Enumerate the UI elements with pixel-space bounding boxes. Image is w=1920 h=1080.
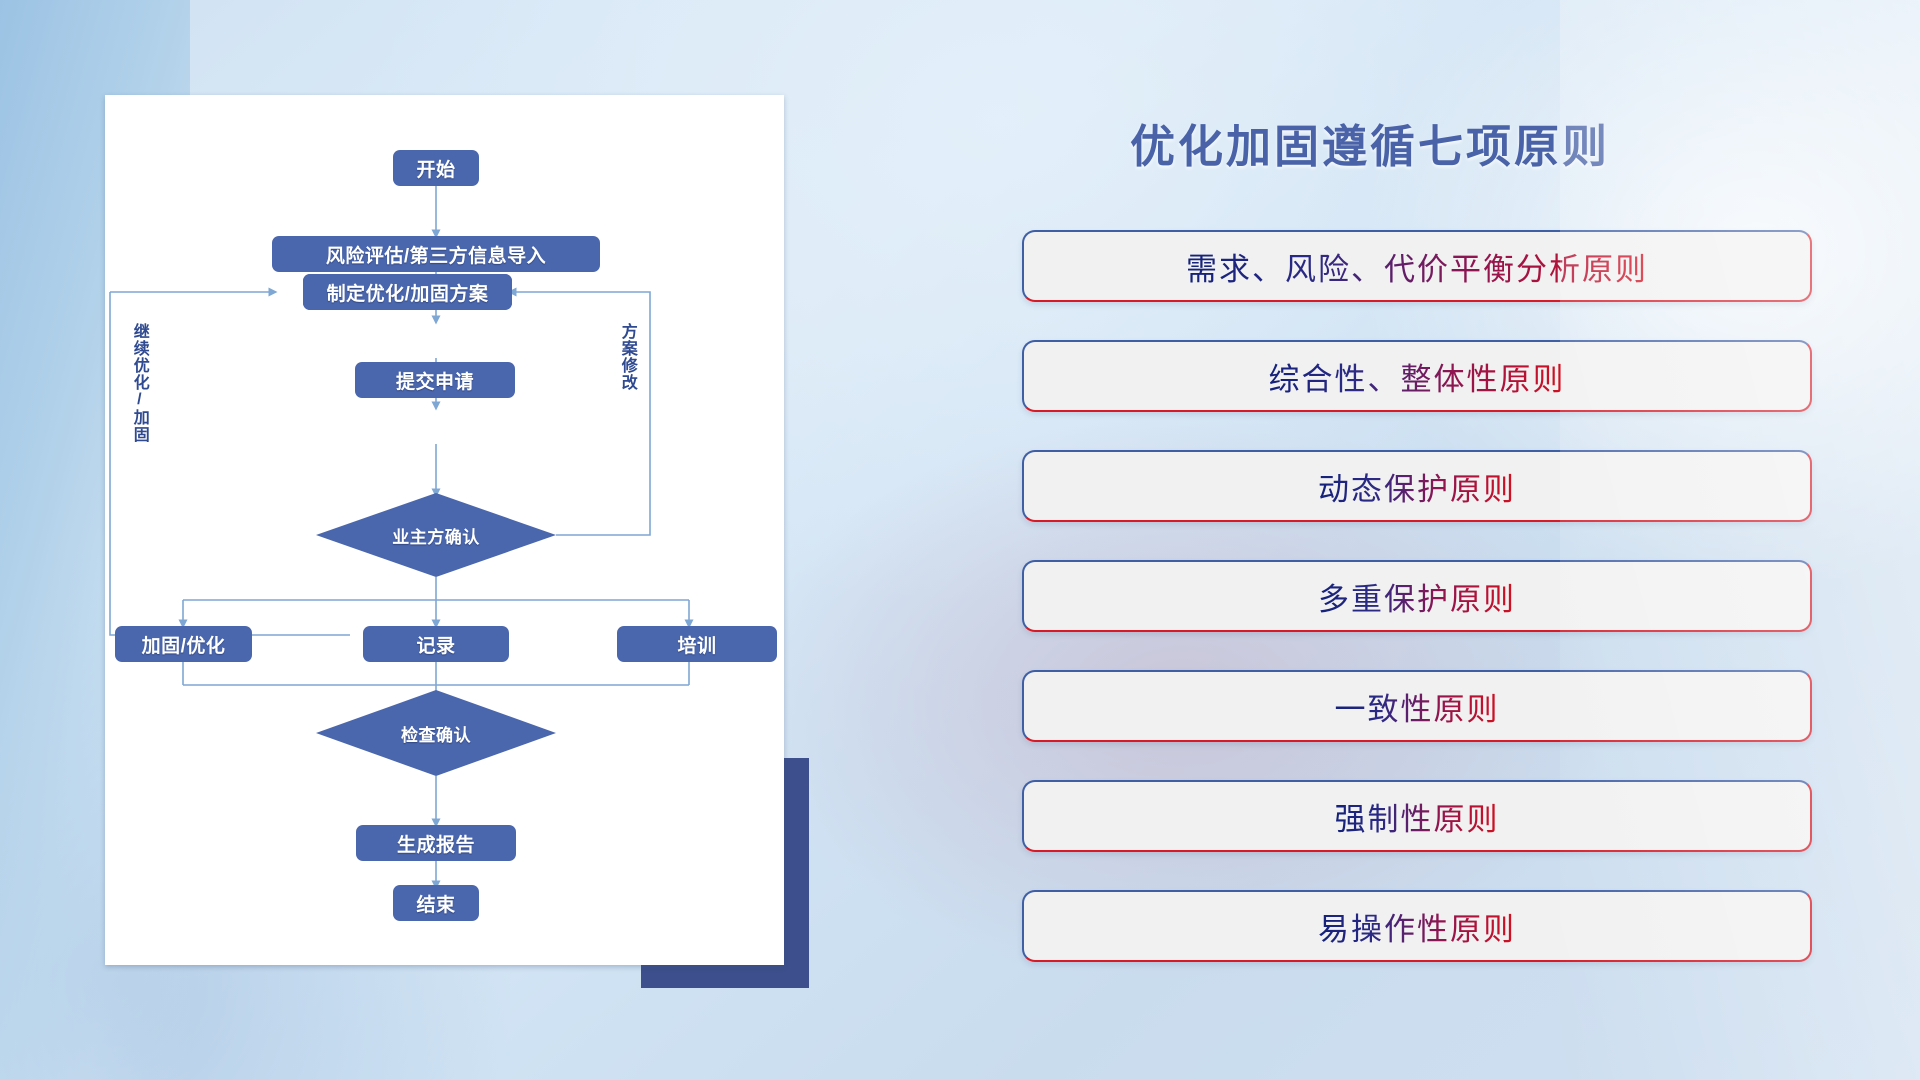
flowchart-card: 开始 风险评估/第三方信息导入 制定优化/加固方案 提交申请 业主方确认 加固/…: [105, 95, 784, 965]
flow-node-label: 生成报告: [397, 830, 475, 857]
page-title: 优化加固遵循七项原则: [1020, 110, 1720, 175]
principle-label: 综合性、整体性原则: [1269, 354, 1566, 399]
principle-label: 需求、风险、代价平衡分析原则: [1186, 244, 1648, 289]
principle-label: 易操作性原则: [1318, 904, 1516, 949]
principle-item-5[interactable]: 一致性原则: [1022, 670, 1812, 742]
flow-node-plan[interactable]: 制定优化/加固方案: [303, 274, 512, 310]
principle-item-1[interactable]: 需求、风险、代价平衡分析原则: [1022, 230, 1812, 302]
flow-node-label: 记录: [416, 631, 455, 658]
flow-node-submit-application[interactable]: 提交申请: [355, 362, 515, 398]
flow-node-label: 开始: [416, 155, 455, 182]
flow-node-generate-report[interactable]: 生成报告: [356, 825, 516, 861]
flow-node-label: 制定优化/加固方案: [327, 279, 489, 306]
principle-item-2[interactable]: 综合性、整体性原则: [1022, 340, 1812, 412]
flow-node-label: 业主方确认: [392, 523, 480, 548]
principle-item-3[interactable]: 动态保护原则: [1022, 450, 1812, 522]
principles-list: 需求、风险、代价平衡分析原则 综合性、整体性原则 动态保护原则 多重保护原则 一…: [1022, 230, 1812, 962]
flow-edge-label-continue-optimize: 继续优化/加固: [130, 323, 147, 443]
flow-node-label: 检查确认: [401, 721, 471, 746]
flow-node-label: 结束: [416, 890, 455, 917]
flow-node-reinforce[interactable]: 加固/优化: [115, 626, 252, 662]
flow-node-label: 提交申请: [396, 367, 474, 394]
principle-item-4[interactable]: 多重保护原则: [1022, 560, 1812, 632]
flow-node-owner-confirm[interactable]: 业主方确认: [316, 493, 556, 577]
principle-item-6[interactable]: 强制性原则: [1022, 780, 1812, 852]
flow-node-label: 培训: [677, 631, 716, 658]
flow-node-start[interactable]: 开始: [393, 150, 479, 186]
flow-node-end[interactable]: 结束: [393, 885, 479, 921]
principle-label: 多重保护原则: [1318, 574, 1516, 619]
flow-node-risk-assessment[interactable]: 风险评估/第三方信息导入: [272, 236, 600, 272]
flow-node-training[interactable]: 培训: [617, 626, 777, 662]
slide-root: 开始 风险评估/第三方信息导入 制定优化/加固方案 提交申请 业主方确认 加固/…: [0, 0, 1920, 1080]
principle-item-7[interactable]: 易操作性原则: [1022, 890, 1812, 962]
principle-label: 动态保护原则: [1318, 464, 1516, 509]
flow-edge-label-plan-revision: 方案修改: [618, 323, 635, 391]
principle-label: 一致性原则: [1335, 684, 1500, 729]
flow-node-inspection-confirm[interactable]: 检查确认: [316, 690, 556, 776]
flow-node-label: 加固/优化: [142, 631, 226, 658]
principle-label: 强制性原则: [1335, 794, 1500, 839]
flow-node-label: 风险评估/第三方信息导入: [326, 241, 546, 268]
flow-node-record[interactable]: 记录: [363, 626, 509, 662]
